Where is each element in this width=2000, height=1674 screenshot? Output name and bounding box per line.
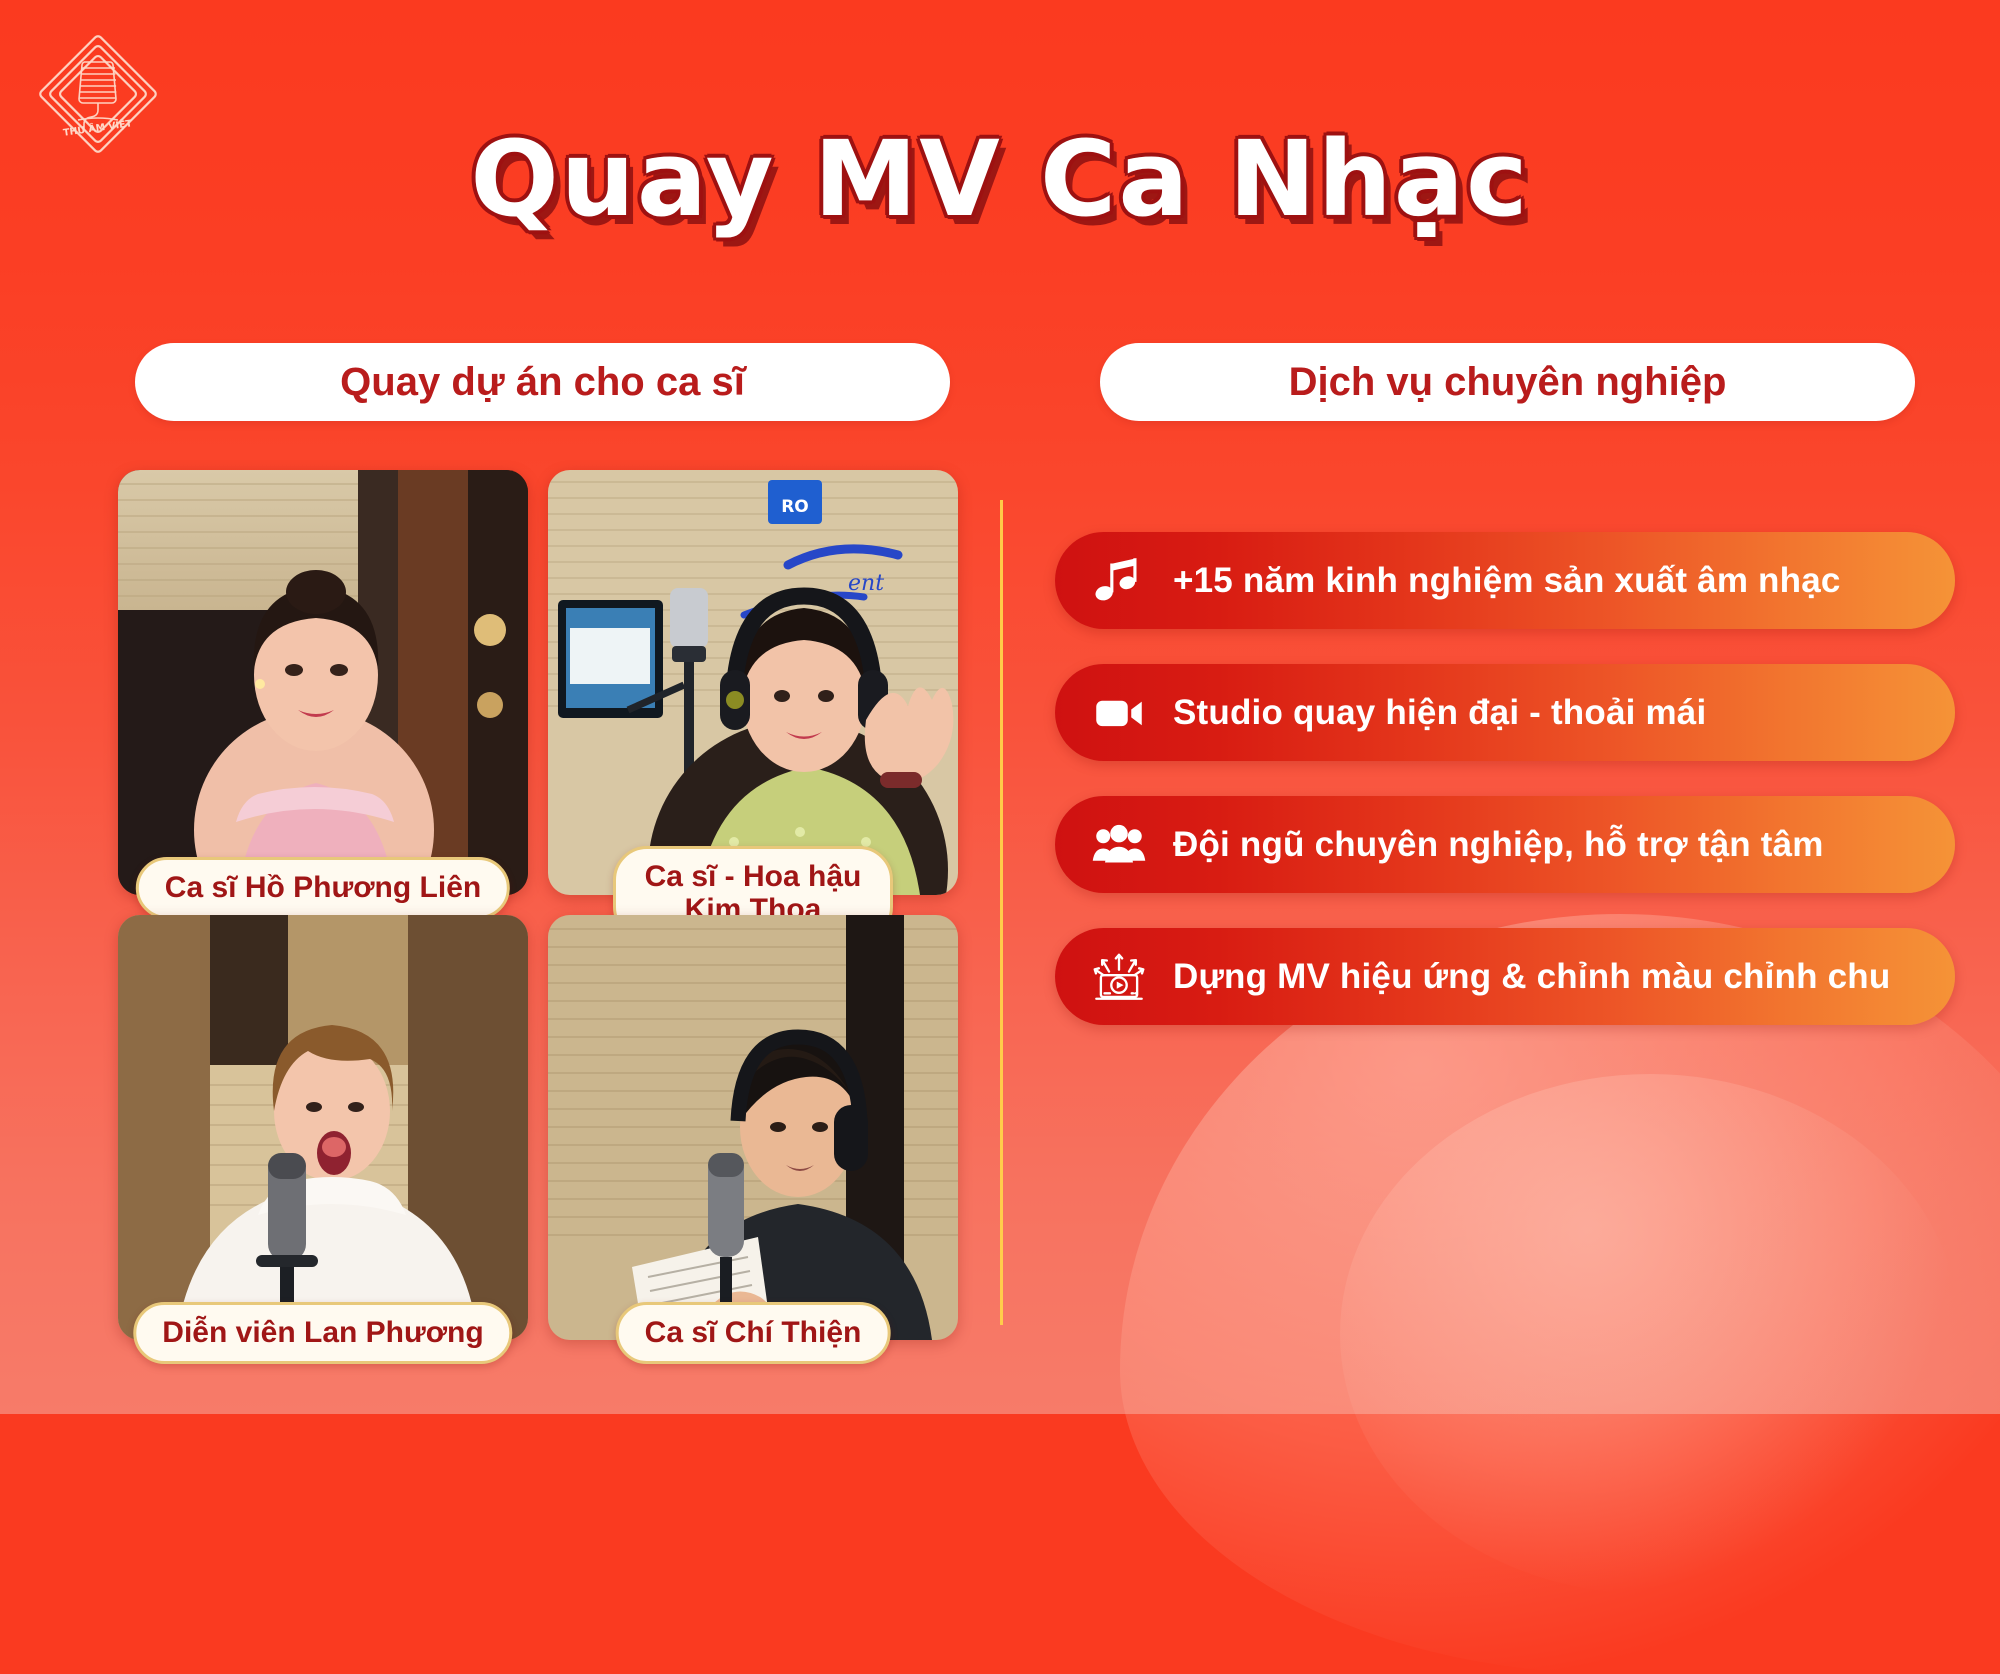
section-header-left: Quay dự án cho ca sĩ [135,343,950,421]
section-header-left-label: Quay dự án cho ca sĩ [340,360,745,405]
artist-gallery: Ca sĩ Hồ Phương Liên RO ent [118,470,958,1360]
svg-text:ent: ent [848,571,884,596]
gallery-caption: Ca sĩ Hồ Phương Liên [136,857,510,919]
artist-photo-ho-phuong-lien[interactable] [118,470,528,895]
people-group-icon [1087,813,1151,877]
artist-photo-chi-thien[interactable] [548,915,958,1340]
services-list: +15 năm kinh nghiệm sản xuất âm nhạc Stu… [1055,532,1955,1025]
gallery-item[interactable]: Ca sĩ Hồ Phương Liên [118,470,528,895]
background-blob-small [1340,1074,1960,1594]
gallery-item[interactable]: Diễn viên Lan Phương [118,915,528,1340]
service-item-team[interactable]: Đội ngũ chuyên nghiệp, hỗ trợ tận tâm [1055,796,1955,893]
page-title: Quay MV Ca Nhạc [0,118,2000,240]
service-item-experience[interactable]: +15 năm kinh nghiệm sản xuất âm nhạc [1055,532,1955,629]
section-header-right: Dịch vụ chuyên nghiệp [1100,343,1915,421]
service-item-label: +15 năm kinh nghiệm sản xuất âm nhạc [1173,561,1841,601]
service-item-editing[interactable]: Dựng MV hiệu ứng & chỉnh màu chỉnh chu [1055,928,1955,1025]
gallery-item[interactable]: Ca sĩ Chí Thiện [548,915,958,1340]
video-camera-icon [1087,681,1151,745]
svg-text:RO: RO [781,497,809,517]
music-note-icon [1087,549,1151,613]
section-header-right-label: Dịch vụ chuyên nghiệp [1289,360,1727,405]
service-item-studio[interactable]: Studio quay hiện đại - thoải mái [1055,664,1955,761]
artist-photo-lan-phuong[interactable] [118,915,528,1340]
service-item-label: Studio quay hiện đại - thoải mái [1173,693,1706,733]
gallery-item[interactable]: RO ent [548,470,958,895]
gallery-caption: Diễn viên Lan Phương [133,1302,512,1364]
laptop-play-icon [1087,945,1151,1009]
service-item-label: Đội ngũ chuyên nghiệp, hỗ trợ tận tâm [1173,825,1824,865]
gallery-caption: Ca sĩ Chí Thiện [616,1302,891,1364]
service-item-label: Dựng MV hiệu ứng & chỉnh màu chỉnh chu [1173,957,1890,997]
column-divider [1000,500,1003,1325]
artist-photo-kim-thoa[interactable]: RO ent [548,470,958,895]
